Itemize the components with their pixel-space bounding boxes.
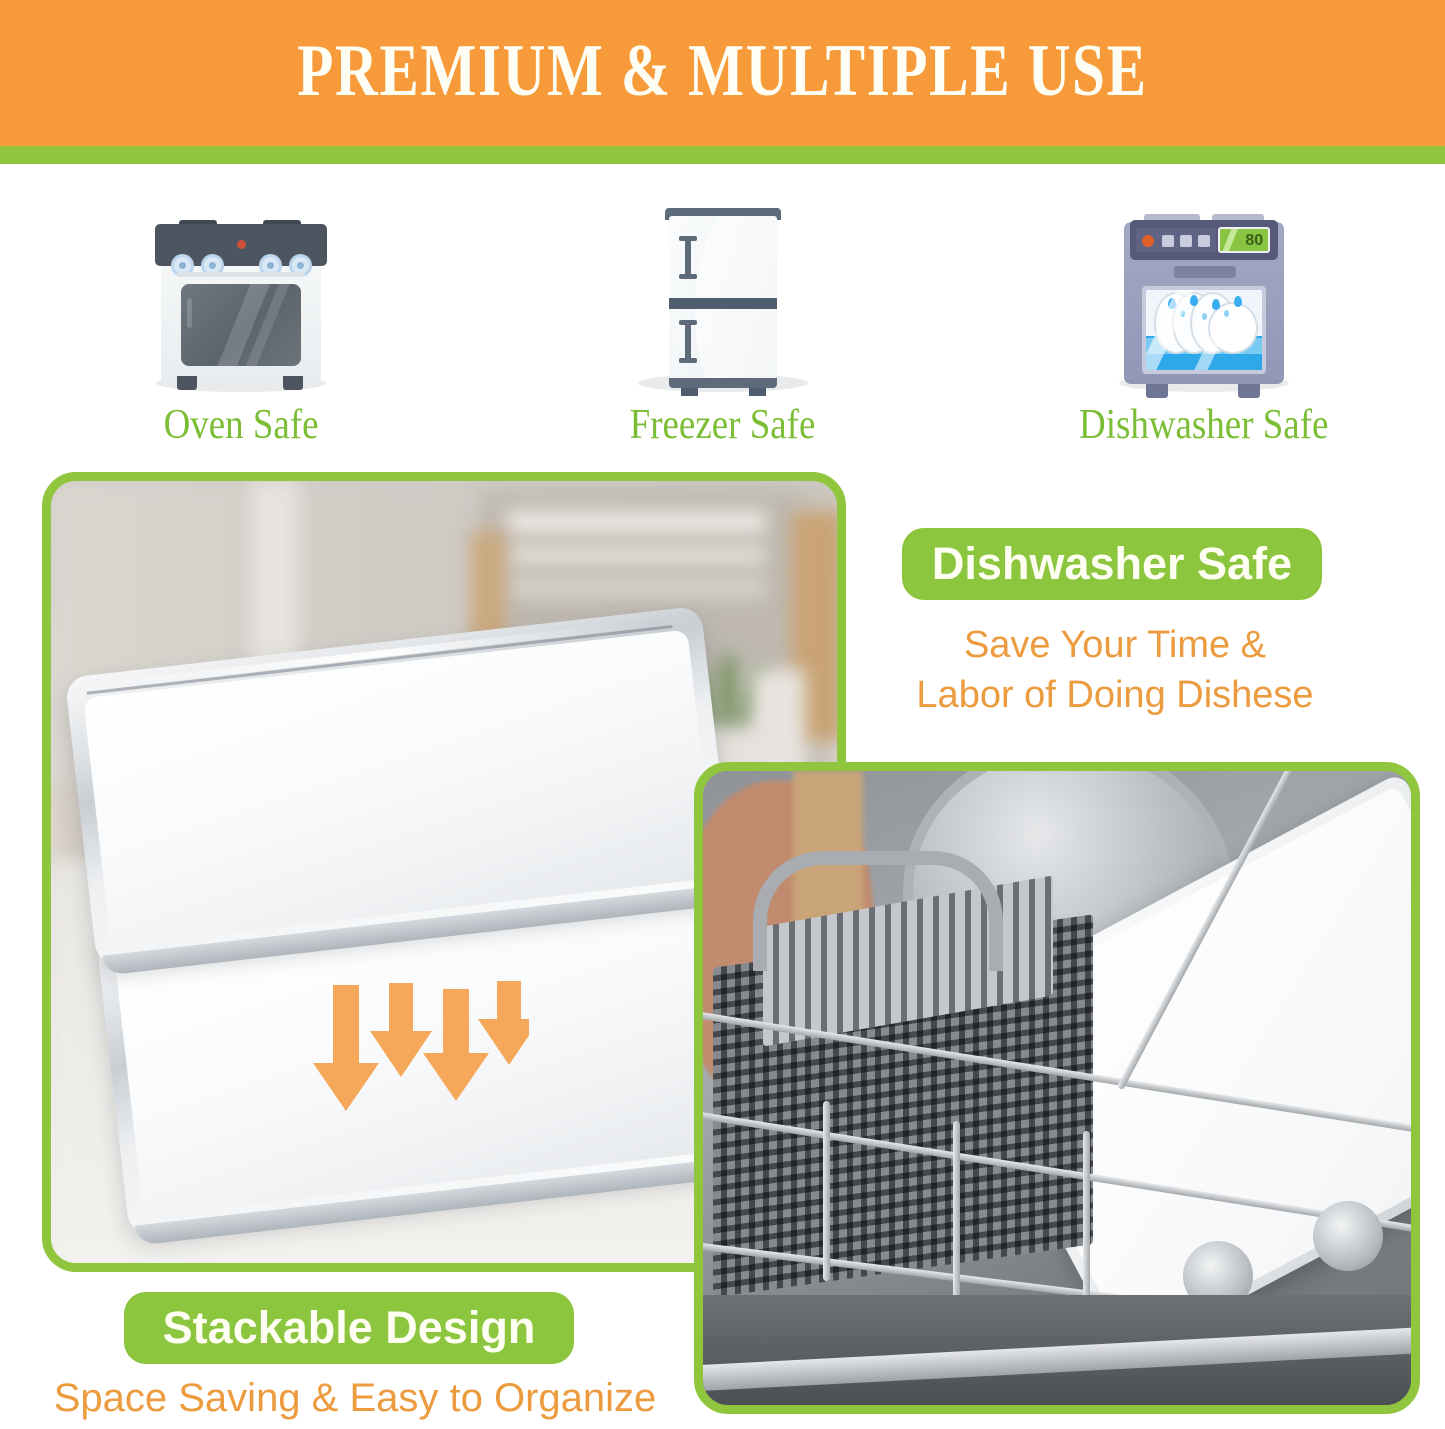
dishwasher-button-3 [1198, 235, 1210, 247]
freezer-handle-lower [685, 322, 691, 362]
dishwasher-control-panel: 80 [1130, 220, 1278, 260]
freezer-icon [663, 202, 783, 392]
page-title: PREMIUM & MULTIPLE USE [297, 34, 1147, 112]
dishwasher-window [1142, 286, 1266, 374]
feature-label-freezer: Freezer Safe [630, 402, 816, 448]
stacking-direction-arrows [309, 981, 529, 1111]
dishwasher-icon: 80 [1120, 202, 1288, 392]
dishwasher-display: 80 [1218, 227, 1270, 253]
rack-wheel-2 [1313, 1201, 1383, 1271]
oven-art [0, 187, 482, 392]
badge-dishwasher-safe: Dishwasher Safe [902, 528, 1322, 600]
oven-handle [177, 272, 305, 277]
freezer-art [482, 187, 964, 392]
dishwasher-interior-scene [703, 771, 1411, 1405]
dishwasher-interior-photo [694, 762, 1420, 1414]
feature-freezer: Freezer Safe [482, 178, 964, 448]
arrow-group-icon [309, 981, 529, 1111]
header-banner: PREMIUM & MULTIPLE USE [0, 0, 1445, 146]
basket-handle [753, 851, 1003, 971]
badge-stackable-design: Stackable Design [124, 1292, 574, 1364]
dishwasher-power-button [1142, 235, 1154, 247]
oven-icon [155, 202, 327, 392]
subtitle-dishwasher-safe: Save Your Time & Labor of Doing Dishese [880, 620, 1350, 720]
header-green-stripe [0, 146, 1445, 164]
oven-window [181, 284, 301, 366]
freezer-door-divider [669, 298, 777, 309]
oven-leg-left [177, 376, 197, 390]
dishwasher-latch [1174, 266, 1236, 278]
feature-label-dishwasher: Dishwasher Safe [1079, 402, 1328, 448]
feature-label-oven: Oven Safe [163, 402, 318, 448]
dishwasher-display-value: 80 [1245, 231, 1263, 251]
freezer-base [669, 378, 777, 388]
dishwasher-button-2 [1180, 235, 1192, 247]
dishwasher-button-1 [1162, 235, 1174, 247]
oven-leg-right [283, 376, 303, 390]
dishwasher-art: 80 [963, 187, 1445, 392]
subtitle-stackable-design: Space Saving & Easy to Organize [50, 1372, 660, 1425]
feature-oven: Oven Safe [0, 178, 482, 448]
feature-dishwasher: 80 Dishwasher Safe [963, 178, 1445, 448]
oven-indicator-light [237, 240, 246, 249]
feature-icon-row: Oven Safe Freezer Safe [0, 178, 1445, 448]
freezer-handle-upper [685, 238, 691, 278]
